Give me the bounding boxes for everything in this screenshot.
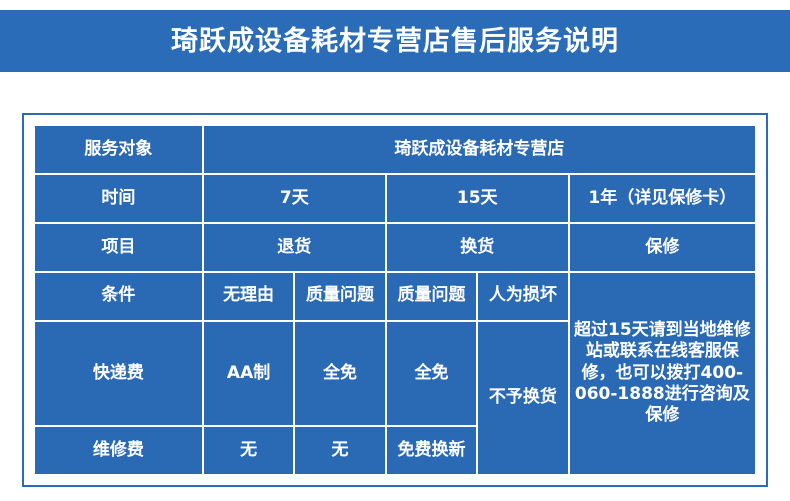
table-row: 时间 7天 15天 1年（详见保修卡） (35, 175, 755, 222)
service-table-frame: 服务对象 琦跃成设备耗材专营店 时间 7天 15天 1年（详见保修卡） 项目 退… (22, 113, 768, 487)
item-return-cell: 退货 (204, 224, 385, 271)
shipping-free-2-cell: 全免 (387, 322, 476, 426)
condition-no-reason-cell: 无理由 (204, 273, 293, 320)
table-row: 项目 退货 换货 保修 (35, 224, 755, 271)
item-exchange-cell: 换货 (387, 224, 568, 271)
table-row: 条件 无理由 质量问题 质量问题 人为损坏 超过15天请到当地维修站或联系在线客… (35, 273, 755, 320)
condition-quality-1-cell: 质量问题 (295, 273, 384, 320)
table-row: 服务对象 琦跃成设备耗材专营店 (35, 126, 755, 173)
row-label-shipping-fee: 快递费 (35, 322, 202, 426)
shipping-aa-cell: AA制 (204, 322, 293, 426)
repair-none-2-cell: 无 (295, 427, 384, 474)
warranty-note-cell: 超过15天请到当地维修站或联系在线客服保修，也可以拨打400-060-1888进… (570, 273, 755, 474)
row-label-condition: 条件 (35, 273, 202, 320)
row-label-service-target: 服务对象 (35, 126, 202, 173)
time-warranty-cell: 1年（详见保修卡） (570, 175, 755, 222)
after-sales-service-table: 服务对象 琦跃成设备耗材专营店 时间 7天 15天 1年（详见保修卡） 项目 退… (33, 124, 757, 476)
no-exchange-cell: 不予换货 (478, 322, 567, 474)
condition-human-damage-cell: 人为损坏 (478, 273, 567, 320)
row-label-time: 时间 (35, 175, 202, 222)
condition-quality-2-cell: 质量问题 (387, 273, 476, 320)
page-title: 琦跃成设备耗材专营店售后服务说明 (171, 28, 619, 55)
item-warranty-cell: 保修 (570, 224, 755, 271)
repair-free-replace-cell: 免费换新 (387, 427, 476, 474)
row-label-item: 项目 (35, 224, 202, 271)
header-banner: 琦跃成设备耗材专营店售后服务说明 (0, 10, 790, 72)
time-return-cell: 7天 (204, 175, 385, 222)
time-exchange-cell: 15天 (387, 175, 568, 222)
warranty-note-text: 超过15天请到当地维修站或联系在线客服保修，也可以拨打400-060-1888进… (573, 320, 752, 426)
row-label-repair-fee: 维修费 (35, 427, 202, 474)
shipping-free-1-cell: 全免 (295, 322, 384, 426)
store-name-cell: 琦跃成设备耗材专营店 (204, 126, 755, 173)
repair-none-1-cell: 无 (204, 427, 293, 474)
service-policy-page: 琦跃成设备耗材专营店售后服务说明 服务对象 琦跃成设备耗材专营店 时间 7天 (0, 0, 790, 501)
